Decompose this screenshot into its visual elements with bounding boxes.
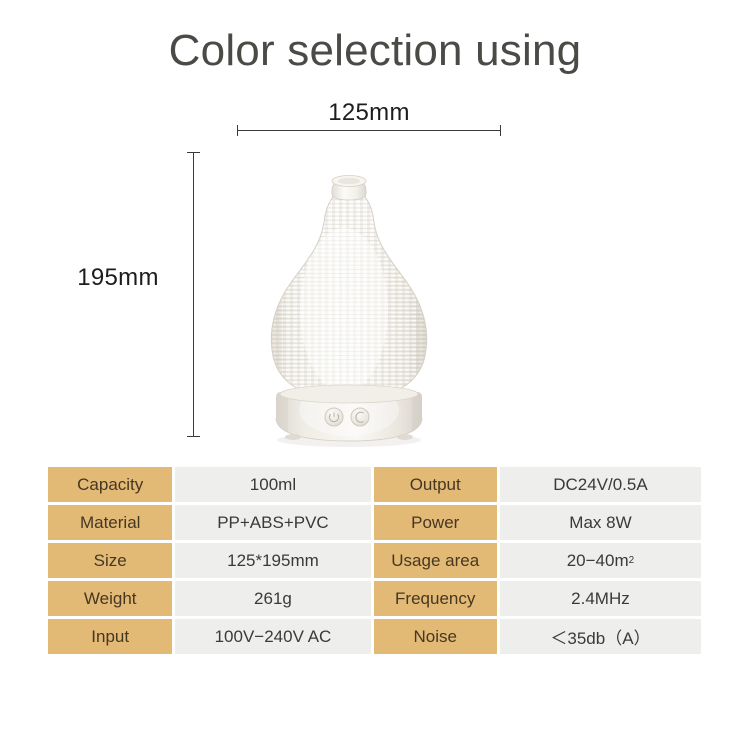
spec-value-usage-area-text: 20−40m (567, 551, 629, 571)
base-button-light[interactable] (351, 408, 369, 426)
product-image (248, 160, 450, 450)
page-title: Color selection using (0, 26, 750, 77)
spec-label-weight: Weight (48, 581, 172, 616)
width-dimension-cap-left (237, 125, 238, 136)
height-dimension-cap-bottom (187, 436, 200, 437)
spec-value-frequency: 2.4MHz (500, 581, 701, 616)
spec-value-size: 125*195mm (175, 543, 370, 578)
spec-value-output: DC24V/0.5A (500, 467, 701, 502)
spec-value-noise: ＜35db（A） (500, 619, 701, 654)
spec-value-input: 100V−240V AC (175, 619, 370, 654)
table-row: Size 125*195mm Usage area 20−40m2 (48, 543, 701, 578)
table-row: Input 100V−240V AC Noise ＜35db（A） (48, 619, 701, 654)
base-foot-right (397, 434, 413, 440)
spec-label-noise: Noise (374, 619, 497, 654)
height-dimension-rule (193, 152, 194, 437)
spec-label-frequency: Frequency (374, 581, 497, 616)
diffuser-body (248, 180, 450, 406)
spec-label-output: Output (374, 467, 497, 502)
base-button-power[interactable] (325, 408, 343, 426)
width-dimension-rule (237, 130, 501, 131)
spec-value-material: PP+ABS+PVC (175, 505, 370, 540)
diffuser-neck-rim (332, 176, 366, 201)
spec-label-size: Size (48, 543, 172, 578)
height-dimension-cap-top (187, 152, 200, 153)
height-dimension-label: 195mm (58, 264, 178, 292)
table-row: Material PP+ABS+PVC Power Max 8W (48, 505, 701, 540)
table-row: Weight 261g Frequency 2.4MHz (48, 581, 701, 616)
spec-value-capacity: 100ml (175, 467, 370, 502)
diffuser-illustration (248, 160, 450, 450)
specification-table: Capacity 100ml Output DC24V/0.5A Materia… (48, 467, 701, 654)
base-foot-left (285, 434, 301, 440)
spec-value-power: Max 8W (500, 505, 701, 540)
width-dimension-cap-right (500, 125, 501, 136)
spec-label-capacity: Capacity (48, 467, 172, 502)
spec-value-usage-area: 20−40m2 (500, 543, 701, 578)
spec-label-input: Input (48, 619, 172, 654)
spec-label-usage-area: Usage area (374, 543, 497, 578)
table-row: Capacity 100ml Output DC24V/0.5A (48, 467, 701, 502)
spec-label-material: Material (48, 505, 172, 540)
height-dimension-line (193, 152, 194, 437)
width-dimension-label: 125mm (237, 99, 501, 127)
width-dimension-line (237, 130, 501, 131)
spec-value-weight: 261g (175, 581, 370, 616)
spec-label-power: Power (374, 505, 497, 540)
diffuser-base (248, 384, 450, 448)
